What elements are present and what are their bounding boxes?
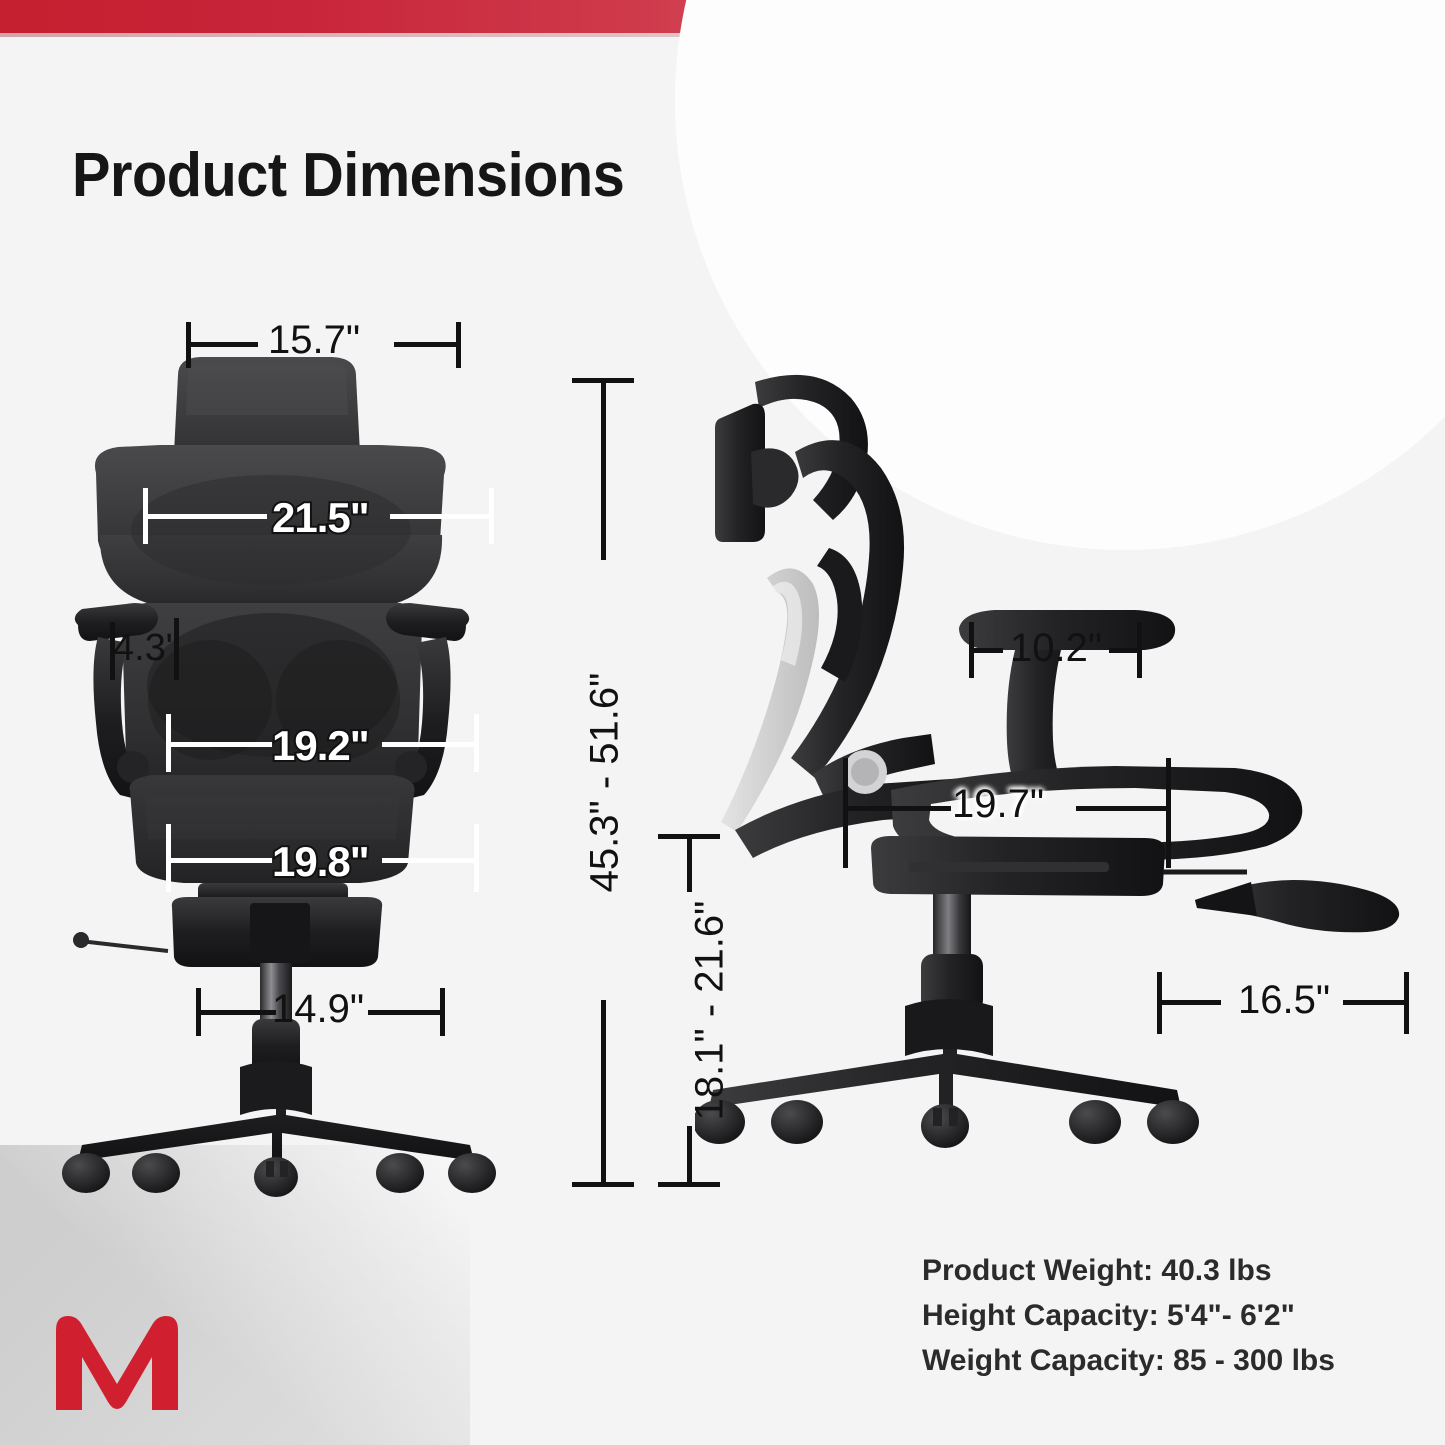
dim-label-headrest-width: 15.7"	[268, 318, 360, 363]
dim-label-backrest-depth: 10.2"	[1010, 626, 1102, 671]
spec-product-weight: Product Weight: 40.3 lbs	[922, 1248, 1335, 1293]
dim-label-seat-height: 18.1" - 21.6"	[688, 826, 733, 1196]
page-title: Product Dimensions	[72, 140, 624, 211]
brand-logo-m	[42, 1310, 192, 1415]
dim-label-seat-depth: 19.7"	[952, 782, 1044, 827]
dim-label-footrest-extend: 16.5"	[1238, 978, 1330, 1023]
dim-label-backrest-width: 21.5"	[272, 494, 369, 542]
dimension-infographic: Product Dimensions	[0, 0, 1445, 1445]
dim-label-headrest-gap: 4.3"	[113, 627, 179, 670]
chair-side-view-illustration	[695, 360, 1415, 1215]
casters	[62, 1153, 496, 1197]
spec-height-capacity: Height Capacity: 5'4"- 6'2"	[922, 1293, 1335, 1338]
headrest-pivot	[751, 448, 799, 507]
casters	[695, 1100, 1199, 1148]
backrest-mesh-ghost	[721, 568, 819, 832]
dim-label-seat-width: 19.8"	[272, 838, 369, 886]
tilt-lever	[80, 941, 168, 951]
gas-cylinder	[933, 894, 971, 960]
chair-front-view-illustration	[60, 355, 600, 1215]
spec-weight-capacity: Weight Capacity: 85 - 300 lbs	[922, 1338, 1335, 1383]
dim-label-base-width: 14.9"	[272, 987, 364, 1032]
dim-label-lumbar-width: 19.2"	[272, 722, 369, 770]
specifications-block: Product Weight: 40.3 lbs Height Capacity…	[922, 1248, 1335, 1383]
dim-label-overall-height: 45.3" - 51.6"	[583, 598, 628, 968]
